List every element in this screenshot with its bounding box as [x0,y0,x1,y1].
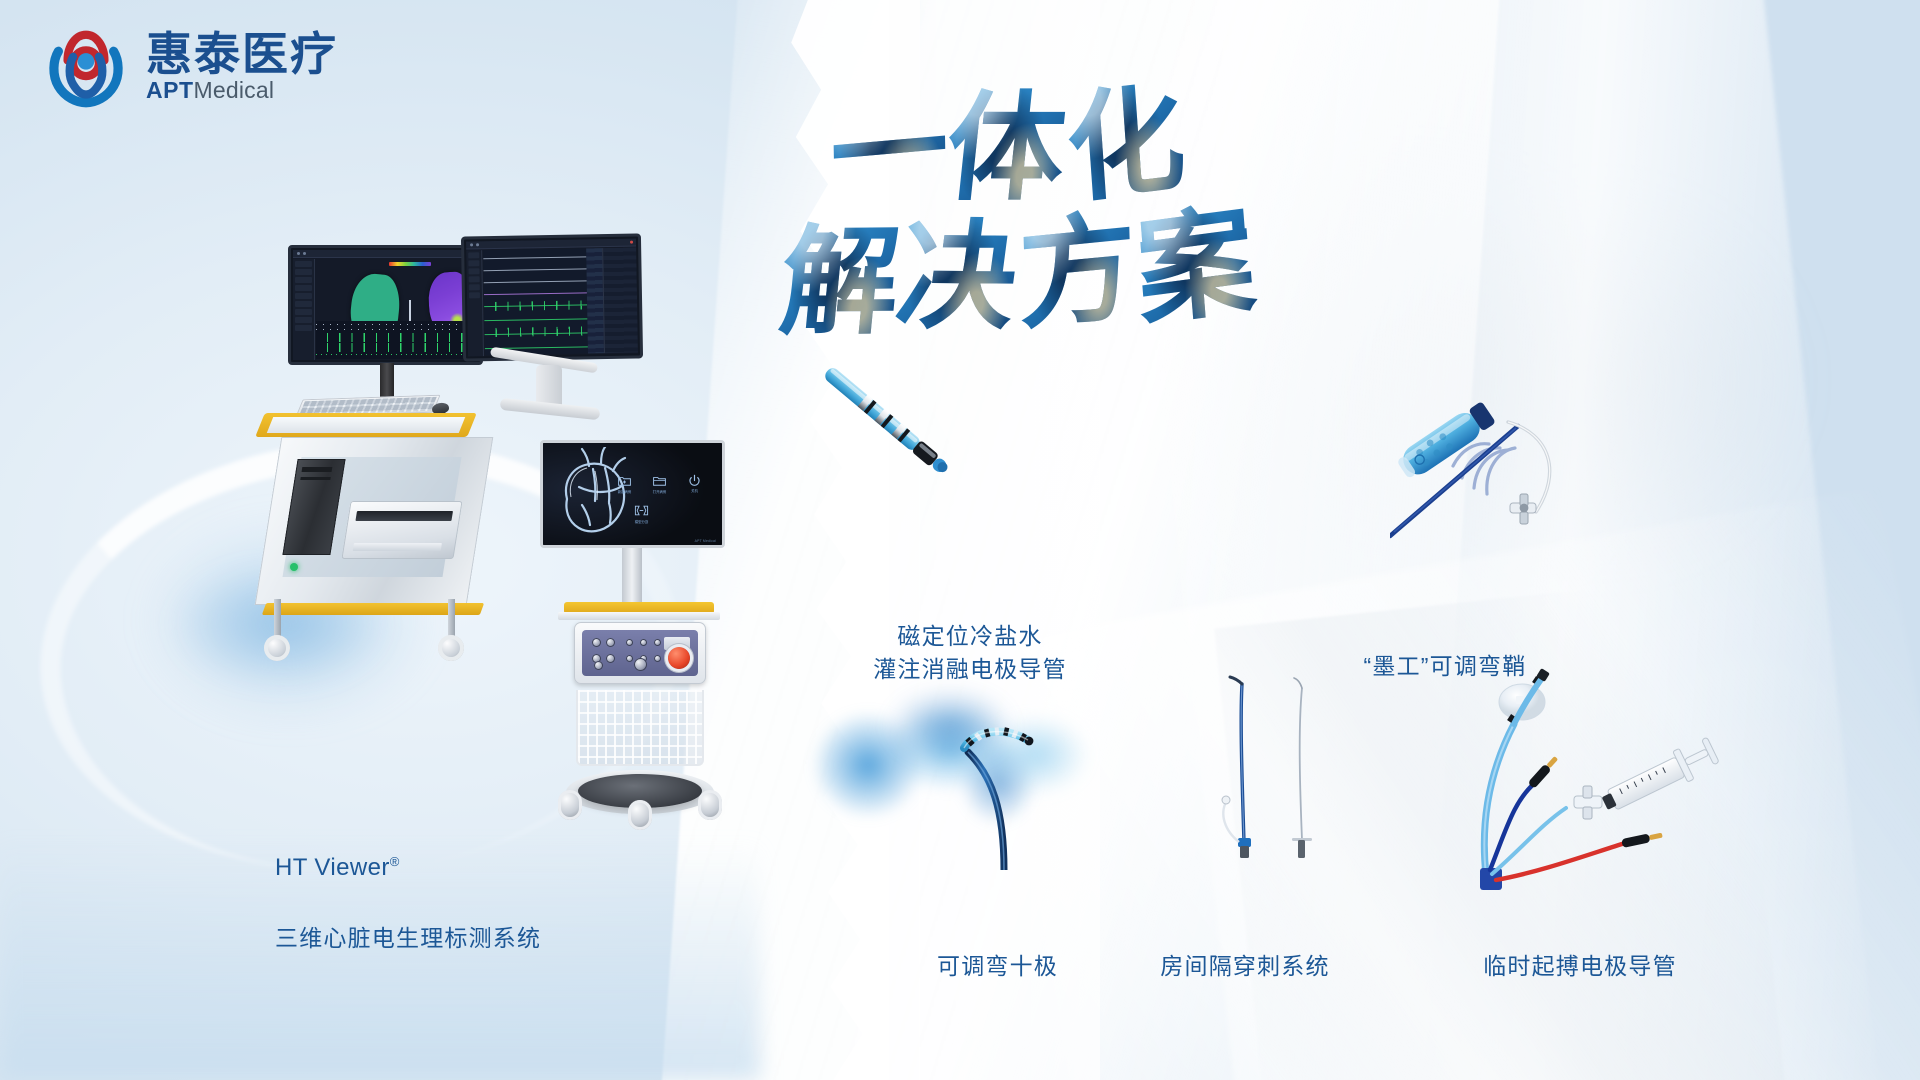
headline-char: 解 [774,185,908,357]
new-patient-folder-icon[interactable]: 新建病例 [618,475,631,488]
poster-canvas: 惠泰医疗 APTMedical 一体化 解决方案 [0,0,1920,1080]
product-label-decapolar-catheter: 可调弯十极 [905,950,1090,983]
printer [341,501,462,559]
product-label-pacing-catheter: 临时起搏电极导管 [1430,950,1730,983]
signal-traces-panel [483,248,588,355]
accessory-basket [576,690,704,766]
screen-action-icons: 新建病例 打开病例 关机 模型分割 [616,471,712,533]
icon-caption: 关机 [691,490,698,493]
workstation-label-en-text: HT Viewer [275,854,390,881]
connector-port[interactable] [626,639,633,646]
app-titlebar [293,250,478,258]
icon-caption: 模型分割 [635,521,649,524]
channel-list-sidebar [466,250,484,356]
monitor-post [622,548,642,604]
workstation-label-en: HT Viewer® [275,851,541,885]
connector-port[interactable] [640,639,647,646]
workstation-cart [260,413,510,663]
headline-char: 方 [1016,170,1138,353]
temporary-pacing-catheter-icon [1480,660,1810,890]
connector-port[interactable] [606,638,615,647]
power-led-icon [290,563,298,571]
headline-line-2: 解决方案 [778,168,1257,359]
magnetic-field-generator-control-panel [574,622,706,684]
emergency-stop-button[interactable] [668,647,690,669]
tool-sidebar [293,259,315,360]
cart-shelf [558,612,720,620]
channel-table [602,248,638,354]
icon-caption: 新建病例 [618,491,632,494]
magnetic-navigation-cart: 新建病例 打开病例 关机 模型分割 APT Medical [540,440,760,860]
cart-caster [698,790,722,820]
3d-mapping-screen [293,250,478,360]
headline: 一体化 解决方案 [950,30,1570,330]
workstation-label: HT Viewer® 三维心脏电生理标测系统 [275,818,541,955]
ground-port[interactable] [594,661,603,670]
open-folder-icon[interactable]: 打开病例 [653,475,666,488]
product-label-steerable-sheath: “墨工”可调弯鞘 [1330,650,1560,683]
connector-port[interactable] [592,638,601,647]
connector-port[interactable] [654,639,661,646]
cart-caster [628,800,652,830]
steerable-decapolar-catheter-icon [930,690,1090,870]
apt-medical-logo-icon [40,20,132,112]
registered-mark: ® [390,854,400,869]
segmentation-icon[interactable]: 模型分割 [634,505,649,518]
heart-display-monitor: 新建病例 打开病例 关机 模型分割 APT Medical [540,440,725,548]
3d-mapping-monitor [288,245,483,365]
cart-base [558,770,722,822]
brand-name-en: APTMedical [146,79,338,102]
electrogram-strip [316,321,477,359]
main-connector-port[interactable] [634,658,647,671]
brand-name-en-light: Medical [194,77,275,103]
printer-slot [355,511,453,521]
brand-name-en-bold: APT [146,77,194,103]
recording-screen [466,239,638,357]
headline-char: 案 [1130,163,1260,349]
cart-worktop [267,417,465,433]
measurement-column [586,248,604,353]
transseptal-puncture-system-icon [1190,660,1360,860]
product-label-ablation-catheter: 磁定位冷盐水 灌注消融电极导管 [845,620,1095,685]
workstation-label-cn: 三维心脏电生理标测系统 [275,925,541,951]
printer-tray [353,543,442,551]
cart-caster [264,635,290,661]
voltage-colorbar [389,262,431,266]
screen-watermark: APT Medical [695,539,716,543]
headline-char: 决 [889,180,1029,352]
brand-logo-text: 惠泰医疗 APTMedical [146,31,338,102]
power-icon[interactable]: 关机 [688,474,701,489]
connector-port[interactable] [606,654,615,663]
brand-logo: 惠泰医疗 APTMedical [40,20,338,112]
connector-port[interactable] [626,655,633,662]
icon-caption: 打开病例 [653,491,667,494]
cart-caster [438,635,464,661]
product-label-transseptal-system: 房间隔穿刺系统 [1125,950,1365,983]
electrophysiology-recording-monitor [461,233,643,361]
brand-name-cn: 惠泰医疗 [146,31,338,77]
control-panel-face [582,630,698,676]
heart-display-screen: 新建病例 打开病例 关机 模型分割 APT Medical [543,443,722,545]
steerable-sheath-icon [1390,360,1710,540]
cart-caster [558,790,582,820]
irrigated-ablation-catheter-icon [800,355,980,500]
connector-port[interactable] [654,655,661,662]
